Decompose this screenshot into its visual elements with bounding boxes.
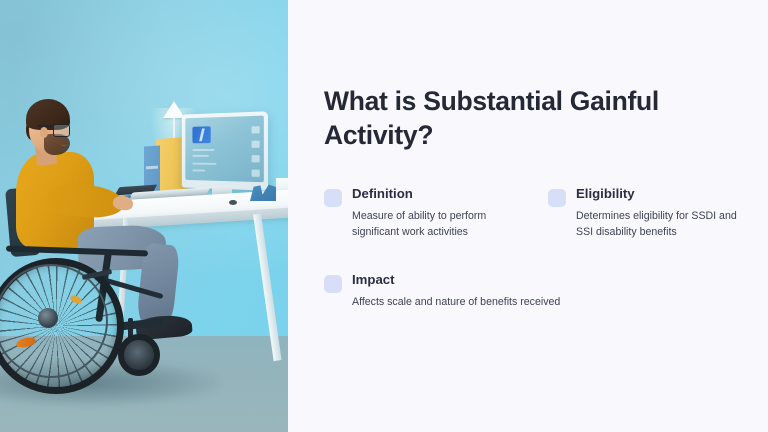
feature-card-body: Affects scale and nature of benefits rec… (352, 294, 744, 310)
feature-card-group: Definition Measure of ability to perform… (324, 186, 754, 310)
feature-card-heading: Eligibility (576, 186, 748, 202)
feature-card-heading: Definition (352, 186, 524, 202)
screen-text-line (192, 163, 216, 165)
feature-card-body: Measure of ability to perform significan… (352, 208, 524, 240)
screen-side-widget (252, 141, 260, 148)
screen-side-widget (252, 170, 260, 177)
feature-card-body: Determines eligibility for SSDI and SSI … (576, 208, 748, 240)
person-smile (60, 141, 68, 146)
square-badge-icon (324, 189, 342, 207)
feature-card-text: Eligibility Determines eligibility for S… (576, 186, 748, 240)
illustration-panel (0, 0, 288, 432)
monitor-screen (185, 116, 264, 183)
screen-side-widget (252, 155, 260, 162)
screen-text-line (192, 155, 208, 157)
feature-card-text: Impact Affects scale and nature of benef… (352, 272, 744, 310)
screen-logo-icon (192, 126, 210, 143)
wheelchair-caster-wheel (118, 334, 160, 376)
screen-side-widget (252, 126, 260, 133)
slide: What is Substantial Gainful Activity? De… (0, 0, 768, 432)
computer-monitor (182, 111, 268, 190)
wheel-hub (38, 308, 58, 328)
content-panel: What is Substantial Gainful Activity? De… (288, 0, 768, 432)
person-ear (40, 127, 48, 138)
page-title: What is Substantial Gainful Activity? (324, 84, 732, 152)
feature-card-definition[interactable]: Definition Measure of ability to perform… (324, 186, 524, 240)
feature-card-row-top: Definition Measure of ability to perform… (324, 186, 754, 240)
feature-card-text: Definition Measure of ability to perform… (352, 186, 524, 240)
feature-card-eligibility[interactable]: Eligibility Determines eligibility for S… (548, 186, 748, 240)
screen-text-line (192, 149, 214, 151)
glasses-icon (53, 124, 70, 137)
square-badge-icon (324, 275, 342, 293)
screen-text-line (192, 169, 205, 171)
feature-card-impact[interactable]: Impact Affects scale and nature of benef… (324, 272, 744, 310)
feature-card-heading: Impact (352, 272, 744, 288)
square-badge-icon (548, 189, 566, 207)
computer-mouse (229, 200, 237, 205)
